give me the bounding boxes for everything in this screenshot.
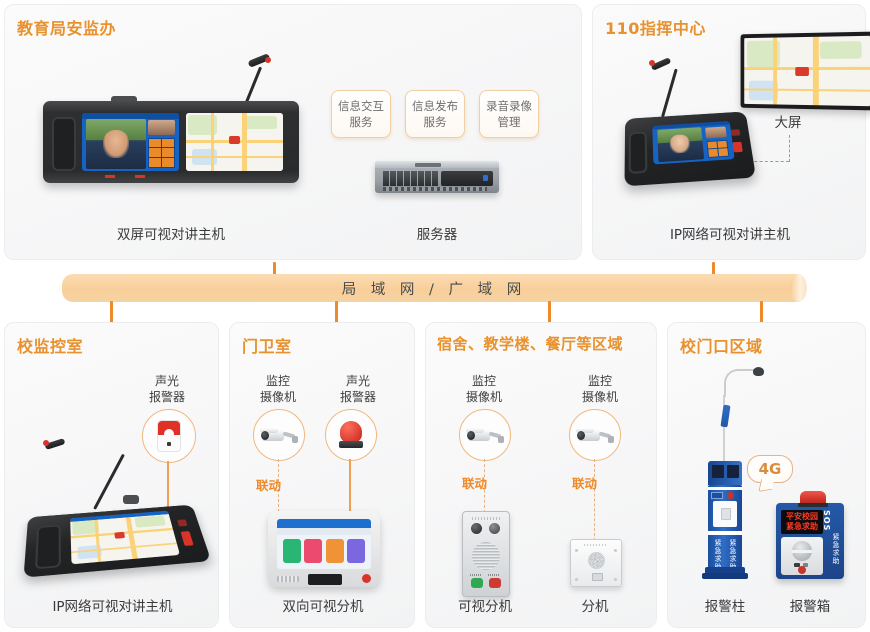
device-alarm-box: 平安校园 紧急求助 SOS 紧急求助 [776,503,844,579]
caption-alarm-box: 报警箱 [767,595,853,615]
pillar-band-top [708,487,742,490]
microphone-stem [661,69,677,118]
device-ip-video-console [623,101,753,187]
connector-stub-down-3 [548,301,551,323]
pillar-foot [702,573,748,579]
server-status-led-icon [483,175,488,181]
badge-label-camera: 监控 摄像机 [238,373,318,405]
microphone-indicator-icon [265,57,271,63]
extension-speaker-grille [588,552,605,569]
caption-two-way-video-extension: 双向可视分机 [238,595,408,615]
emergency-button[interactable] [181,531,194,546]
caption-audio-extension: 分机 [552,595,638,615]
ip-console-body [624,111,756,186]
extension-microphone-icon [471,523,482,534]
linkage-label-camera: 联动 [256,475,281,494]
caption-ip-video-console: IP网络可视对讲主机 [625,223,835,243]
ip-console-screen [70,511,180,565]
pillar-window-left [712,465,724,478]
panel-guard-room: 门卫室 监控 摄像机 声光 报警器 联动 [229,322,415,628]
extension-camera-icon [489,523,500,534]
service-chip-publish[interactable]: 信息发布 服务 [405,90,465,138]
service-chip-interactive-text: 信息交互 服务 [338,98,384,130]
sounder-icon [157,420,181,452]
extension-call-button[interactable] [471,578,483,588]
console-body [43,101,299,183]
panel-school-monitoring-room: 校监控室 声光 报警器 [4,322,219,628]
bullet-camera-icon [466,425,504,445]
badge-circle-camera-1 [459,409,511,461]
topology-diagram: 教育局安监办 [0,0,870,632]
panel-title-education-bureau: 教育局安监办 [17,15,116,39]
extension-speaker-grille [472,542,500,570]
alarm-box-sos-label: SOS [822,510,831,531]
server-drive-bays [383,171,438,186]
connector-stub-down-4 [760,301,763,323]
extension-call-button[interactable] [592,573,603,581]
service-chip-publish-text: 信息发布 服务 [412,98,458,130]
device-large-display [741,32,870,111]
caption-video-extension: 可视分机 [442,595,528,615]
alarm-box-front-panel [781,537,823,575]
connector-stub-down-1 [110,301,113,323]
secondary-button[interactable] [731,129,741,136]
caption-large-display: 大屏 [753,111,823,131]
alarm-box-led-display: 平安校园 紧急求助 [781,510,823,534]
pillar-window-right [727,465,739,478]
large-display-screen [744,36,870,106]
connector-display-drop [789,135,790,162]
service-chip-recording[interactable]: 录音录像 管理 [479,90,539,138]
connector-stub-down-2 [335,301,338,323]
network-backbone: 局 域 网 / 广 域 网 [62,274,806,302]
panel-education-bureau: 教育局安监办 [4,4,582,260]
panel-title-guard-room: 门卫室 [242,333,292,357]
secondary-button[interactable] [177,519,188,526]
alarm-box-emblem-icon [798,566,806,574]
microphone-stem [93,454,124,510]
pillar-emblem-icon [727,492,734,499]
badge-circle-sounder [142,409,196,463]
alarm-box-side-text: 紧急求助 [831,533,841,565]
device-two-way-video-extension [268,511,380,587]
microphone-indicator-icon [649,60,655,66]
emergency-button[interactable] [732,142,742,153]
ip-console-body [23,505,211,578]
console-left-screen [82,113,179,171]
handset [52,117,76,171]
console-camera-icon [123,495,139,504]
device-alarm-pillar: 紧急求助 紧急求助 [696,361,782,583]
console-right-screen [186,113,283,171]
led-line-2: 紧急求助 [786,522,818,532]
panel-title-school-monitoring-room: 校监控室 [17,333,83,357]
service-chip-interactive[interactable]: 信息交互 服务 [331,90,391,138]
badge-label-sounder: 声光 报警器 [127,373,207,405]
service-chip-recording-text: 录音录像 管理 [486,98,532,130]
badge-label-camera-2: 监控 摄像机 [560,373,640,405]
handset [35,525,61,569]
panel-command-center-110: 110指挥中心 大屏 [592,4,866,260]
panel-dorm-classroom-canteen: 宿舍、教学楼、餐厅等区域 监控 摄像机 监控 摄像机 联动 [425,322,657,628]
linkage-label-camera-2: 联动 [572,473,597,492]
panel-title-school-gate-area: 校门口区域 [680,333,763,357]
extension-call-button[interactable] [362,574,371,583]
panel-school-gate-area: 校门口区域 4G 紧急求助 紧急求助 [667,322,866,628]
device-audio-extension [570,539,622,587]
connector-console-to-display [749,161,789,162]
caption-ip-video-console: IP网络可视对讲主机 [15,595,210,615]
caption-alarm-pillar: 报警柱 [682,595,768,615]
panel-title-command-center-110: 110指挥中心 [605,15,706,39]
extension-screen [277,519,371,569]
badge-label-camera-1: 监控 摄像机 [444,373,524,405]
caption-server: 服务器 [375,223,499,243]
red-beacon-icon [338,421,364,449]
pole-camera-icon [753,367,764,376]
badge-circle-camera-2 [569,409,621,461]
device-ip-video-console [27,473,203,583]
device-dual-screen-console [43,101,299,183]
network-backbone-end-cap [790,274,807,302]
handset [629,131,648,173]
connector-camera-linkage-2 [594,459,595,541]
ip-console-screen [652,121,734,164]
network-backbone-label: 局 域 网 / 广 域 网 [342,278,527,299]
linkage-label-camera-1: 联动 [462,473,487,492]
extension-alarm-button[interactable] [489,578,501,588]
badge-circle-camera [253,409,305,461]
pillar-band-mid [708,531,742,535]
device-video-extension [462,511,510,597]
microphone-indicator-icon [43,440,49,446]
device-server [375,161,499,193]
badge-label-beacon: 声光 报警器 [318,373,398,405]
panel-title-dorm-classroom-canteen: 宿舍、教学楼、餐厅等区域 [437,333,623,354]
led-line-1: 平安校园 [786,512,818,522]
caption-dual-screen-console: 双屏可视对讲主机 [43,223,299,243]
bullet-camera-icon [260,425,298,445]
bullet-camera-icon [576,425,614,445]
badge-circle-beacon [325,409,377,461]
